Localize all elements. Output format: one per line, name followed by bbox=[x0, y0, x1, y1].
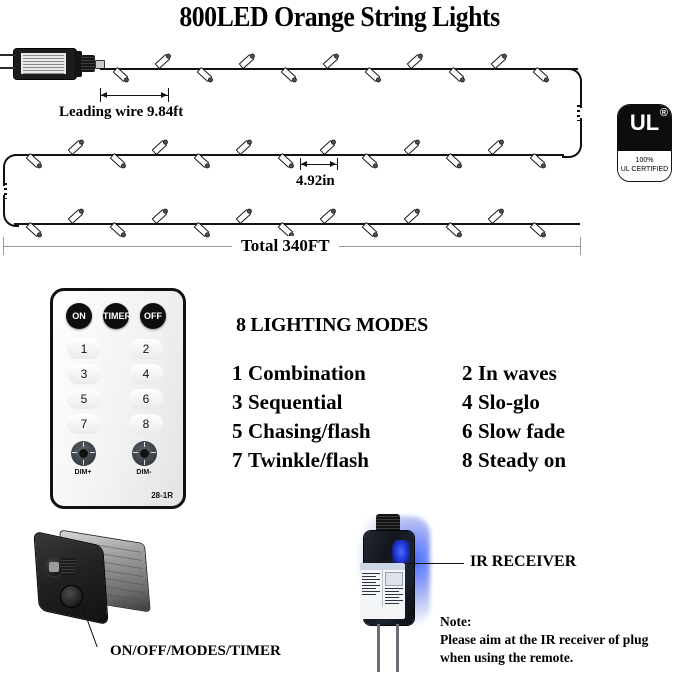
spacing-label: 4.92in bbox=[296, 173, 335, 190]
note-line-2: when using the remote. bbox=[440, 649, 648, 667]
leading-wire-label: Leading wire 9.84ft bbox=[59, 104, 183, 121]
dim-arrow-left bbox=[101, 92, 107, 98]
wire-segment-row1 bbox=[100, 68, 578, 70]
controller-callout-label: ON/OFF/MODES/TIMER bbox=[110, 643, 281, 660]
led-bulb bbox=[68, 209, 84, 224]
mode-item: 6 Slow fade bbox=[462, 418, 565, 445]
note-line-1: Please aim at the IR receiver of plug bbox=[440, 631, 648, 649]
ir-plug-prong-left bbox=[377, 624, 380, 672]
mode-name: Combination bbox=[248, 361, 366, 385]
led-bulb bbox=[404, 209, 420, 224]
mode-number: 4 bbox=[462, 389, 478, 416]
mode-number: 7 bbox=[232, 447, 248, 474]
mode-row: 1 Combination 2 In waves bbox=[232, 360, 572, 387]
mode-name: Slow fade bbox=[478, 419, 565, 443]
mode-name: Twinkle/flash bbox=[248, 448, 369, 472]
ir-label-mode-column bbox=[360, 570, 382, 607]
wire-continuation-dots-right bbox=[577, 105, 580, 121]
led-bulb bbox=[239, 54, 255, 69]
dim-arrow-right bbox=[330, 161, 336, 167]
inline-controller-photo bbox=[35, 534, 165, 630]
mode-item: 8 Steady on bbox=[462, 447, 566, 474]
ir-callout-leader-line bbox=[404, 563, 464, 564]
wire-continuation-dots-left bbox=[4, 183, 7, 199]
power-adapter bbox=[14, 49, 76, 79]
dim-dial-spoke-icon bbox=[151, 452, 156, 453]
adapter-label bbox=[21, 53, 66, 74]
mode-button-6[interactable]: 6 bbox=[129, 389, 163, 409]
led-bulb bbox=[236, 209, 252, 224]
dim-dial-spoke-icon bbox=[144, 460, 145, 465]
dim-dial-spoke-icon bbox=[72, 452, 77, 453]
string-light-diagram: Leading wire 9.84ft 4.92in Total 340FT bbox=[0, 45, 679, 260]
dim-tick-right bbox=[168, 88, 169, 102]
mode-item: 1 Combination bbox=[232, 360, 462, 387]
mode-name: Chasing/flash bbox=[248, 419, 371, 443]
led-bulb bbox=[236, 140, 252, 155]
mode-name: Slo-glo bbox=[478, 390, 540, 414]
note-heading: Note: bbox=[440, 613, 648, 631]
led-bulb bbox=[155, 54, 171, 69]
wire-segment-row3 bbox=[14, 223, 580, 225]
wire-segment-row2 bbox=[14, 154, 564, 156]
mode-row: 5 Chasing/flash 6 Slow fade bbox=[232, 418, 572, 445]
led-bulb bbox=[68, 140, 84, 155]
mode-name: In waves bbox=[478, 361, 557, 385]
controller-front-face bbox=[34, 532, 107, 624]
led-bulb bbox=[491, 54, 507, 69]
mode-button-5[interactable]: 5 bbox=[67, 389, 101, 409]
ul-certified-text: UL CERTIFIED bbox=[618, 165, 671, 174]
dim-dial-spoke-icon bbox=[83, 442, 84, 447]
dim-up-button[interactable] bbox=[71, 441, 96, 466]
ir-label-diagram-icon bbox=[385, 572, 403, 586]
mode-button-3[interactable]: 3 bbox=[67, 364, 101, 384]
mode-number: 2 bbox=[462, 360, 478, 387]
ir-receiver-plug-photo bbox=[352, 510, 432, 673]
mode-number: 6 bbox=[462, 418, 478, 445]
led-bulb bbox=[152, 140, 168, 155]
mode-button-1[interactable]: 1 bbox=[67, 339, 101, 359]
dim-up-label: DIM+ bbox=[63, 469, 103, 476]
ir-plug-prong-right bbox=[396, 624, 399, 672]
adapter-prong-top bbox=[0, 54, 16, 56]
mode-item: 4 Slo-glo bbox=[462, 389, 540, 416]
mode-name: Sequential bbox=[248, 390, 343, 414]
page-title: 800LED Orange String Lights bbox=[27, 2, 652, 34]
ir-plug-label bbox=[360, 563, 405, 619]
remote-control[interactable]: ON TIMER OFF 1 2 3 4 5 6 7 8 DIM+ DIM- 2… bbox=[50, 288, 186, 509]
dim-dial-spoke-icon bbox=[144, 442, 145, 447]
registered-trademark-icon: ® bbox=[660, 107, 668, 119]
mode-number: 3 bbox=[232, 389, 248, 416]
lighting-modes-list: 1 Combination 2 In waves 3 Sequential 4 … bbox=[232, 360, 572, 476]
adapter-prong-bottom bbox=[0, 67, 16, 69]
led-bulb bbox=[320, 140, 336, 155]
controller-mode-button[interactable] bbox=[61, 586, 82, 607]
led-bulb bbox=[320, 209, 336, 224]
mode-item: 5 Chasing/flash bbox=[232, 418, 462, 445]
mode-item: 7 Twinkle/flash bbox=[232, 447, 462, 474]
timer-button[interactable]: TIMER bbox=[103, 303, 129, 329]
mode-button-7[interactable]: 7 bbox=[67, 414, 101, 434]
mode-name: Steady on bbox=[478, 448, 566, 472]
wire-turn-right-top bbox=[562, 68, 582, 108]
ul-percent-text: 100% bbox=[618, 156, 671, 165]
mode-item: 3 Sequential bbox=[232, 389, 462, 416]
ul-badge-bottom: 100% UL CERTIFIED bbox=[618, 151, 671, 182]
dim-down-button[interactable] bbox=[132, 441, 157, 466]
mode-number: 5 bbox=[232, 418, 248, 445]
led-bulb bbox=[488, 209, 504, 224]
mode-button-8[interactable]: 8 bbox=[129, 414, 163, 434]
ir-usage-note: Note: Please aim at the IR receiver of p… bbox=[440, 613, 648, 667]
ir-label-columns bbox=[360, 570, 405, 607]
remote-model-number: 28-1R bbox=[151, 491, 173, 500]
dim-dial-spoke-icon bbox=[133, 452, 138, 453]
ir-label-header bbox=[360, 563, 405, 570]
mode-item: 2 In waves bbox=[462, 360, 557, 387]
mode-button-2[interactable]: 2 bbox=[129, 339, 163, 359]
led-bulb bbox=[407, 54, 423, 69]
mode-number: 1 bbox=[232, 360, 248, 387]
wire-turn-left-top bbox=[3, 154, 19, 186]
controller-threaded-collar bbox=[61, 558, 75, 575]
dim-tick-right bbox=[337, 158, 338, 170]
off-button[interactable]: OFF bbox=[140, 303, 166, 329]
dim-line-leading-wire bbox=[100, 95, 168, 96]
adapter-threaded-connector bbox=[81, 55, 95, 72]
ir-label-instruction-column bbox=[382, 570, 405, 607]
mode-row: 7 Twinkle/flash 8 Steady on bbox=[232, 447, 572, 474]
total-length-label: Total 340FT bbox=[232, 236, 339, 256]
lighting-modes-heading: 8 LIGHTING MODES bbox=[236, 314, 428, 337]
wire-turn-right-bottom bbox=[562, 118, 582, 158]
led-bulb bbox=[488, 140, 504, 155]
led-bulb bbox=[404, 140, 420, 155]
mode-button-4[interactable]: 4 bbox=[129, 364, 163, 384]
led-bulb bbox=[323, 54, 339, 69]
on-button[interactable]: ON bbox=[66, 303, 92, 329]
ir-receiver-callout-label: IR RECEIVER bbox=[470, 553, 576, 571]
ul-certification-badge: UL ® 100% UL CERTIFIED bbox=[617, 104, 672, 182]
dim-arrow-right bbox=[161, 92, 167, 98]
dim-arrow-left bbox=[301, 161, 307, 167]
mode-row: 3 Sequential 4 Slo-glo bbox=[232, 389, 572, 416]
dim-dial-spoke-icon bbox=[90, 452, 95, 453]
led-bulb bbox=[152, 209, 168, 224]
mode-number: 8 bbox=[462, 447, 478, 474]
dim-down-label: DIM- bbox=[124, 469, 164, 476]
dim-dial-spoke-icon bbox=[83, 460, 84, 465]
ul-badge-top: UL ® bbox=[618, 105, 671, 151]
